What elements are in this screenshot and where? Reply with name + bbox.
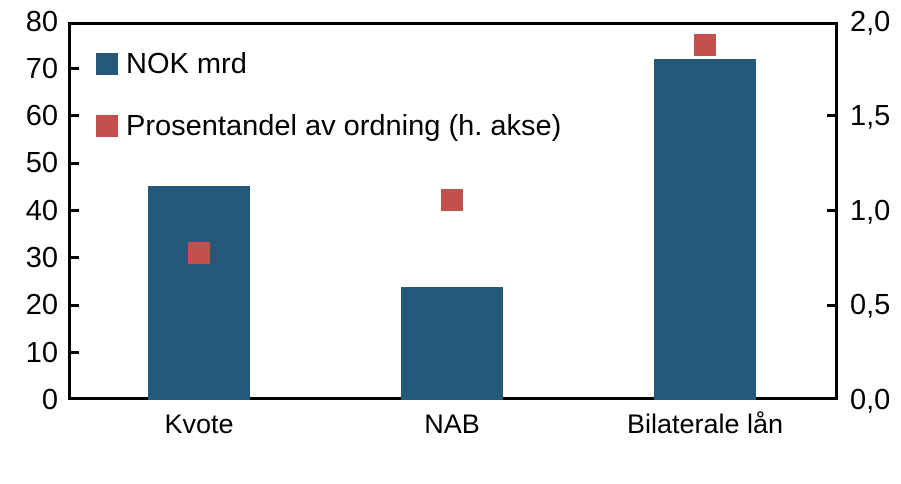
legend-swatch-square-icon <box>96 53 118 75</box>
right-axis-tick-label: 0,5 <box>850 291 890 320</box>
right-axis-tick-label: 0,0 <box>850 386 890 415</box>
legend-item-prosentandel: Prosentandel av ordning (h. akse) <box>96 106 561 146</box>
left-axis-tick-label: 20 <box>26 291 58 320</box>
left-axis-tick-label: 0 <box>42 386 58 415</box>
legend-swatch-square-icon <box>96 115 118 137</box>
right-axis-labels: 2,0 1,5 1,0 0,5 0,0 <box>850 0 901 484</box>
marker-nab <box>441 189 463 211</box>
legend-label-nok-mrd: NOK mrd <box>126 50 247 79</box>
bar-kvote <box>148 186 250 401</box>
left-axis-tick-label: 30 <box>26 244 58 273</box>
chart-legend: NOK mrd Prosentandel av ordning (h. akse… <box>96 44 561 168</box>
legend-item-nok-mrd: NOK mrd <box>96 44 561 84</box>
left-axis-labels: 80 70 60 50 40 30 20 10 0 <box>0 0 58 484</box>
bar-bilaterale-lan <box>654 59 756 400</box>
right-axis-tick-label: 2,0 <box>850 8 890 37</box>
left-axis-tick-label: 70 <box>26 55 58 84</box>
right-axis-tick-label: 1,5 <box>850 102 890 131</box>
category-label-bilaterale-lan: Bilaterale lån <box>627 409 783 440</box>
left-axis-tick-label: 60 <box>26 102 58 131</box>
left-axis-tick-label: 10 <box>26 339 58 368</box>
right-axis-tick-label: 1,0 <box>850 197 890 226</box>
category-label-nab: NAB <box>424 409 480 440</box>
chart-container: 80 70 60 50 40 30 20 10 0 2,0 1,5 1,0 0,… <box>0 0 901 484</box>
legend-label-prosentandel: Prosentandel av ordning (h. akse) <box>126 112 561 141</box>
left-axis-tick-label: 80 <box>26 8 58 37</box>
left-axis-tick-label: 40 <box>26 197 58 226</box>
category-label-kvote: Kvote <box>164 409 233 440</box>
bar-nab <box>401 287 503 400</box>
left-axis-tick-label: 50 <box>26 149 58 178</box>
marker-kvote <box>188 242 210 264</box>
marker-bilaterale-lan <box>694 34 716 56</box>
